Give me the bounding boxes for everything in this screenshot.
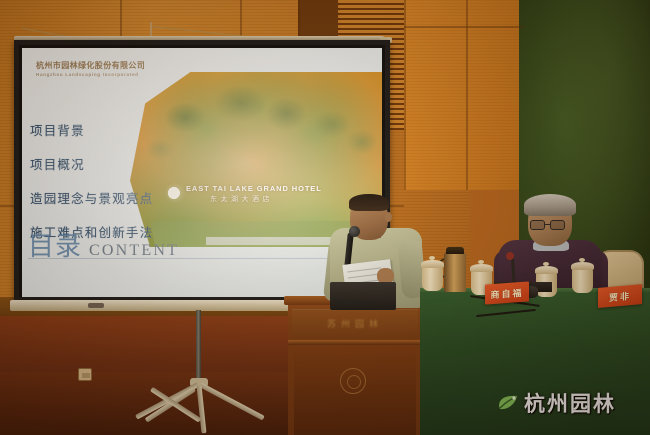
conference-room-photo: 杭州市园林绿化股份有限公司 Hangzhou Landscaping Incor…	[0, 0, 650, 435]
wall-seam	[404, 26, 524, 28]
slide-company-logo: 杭州市园林绿化股份有限公司 Hangzhou Landscaping Incor…	[36, 60, 196, 77]
tea-cup-knob	[543, 262, 549, 266]
slide-bullet-item: 项目背景	[30, 120, 245, 139]
wall-power-outlet	[78, 368, 92, 381]
slide-bullet-item: 造园理念与景观亮点	[30, 188, 245, 207]
podium-front-panel: 苏州园林	[292, 309, 418, 339]
slide-company-name-cn: 杭州市园林绿化股份有限公司	[36, 60, 196, 71]
tea-cup-knob	[429, 256, 435, 260]
tea-cup-lid	[571, 262, 594, 270]
eyeglasses-bridge	[545, 224, 550, 225]
tea-cup-knob	[579, 258, 585, 262]
slide-company-name-en: Hangzhou Landscaping Incorporated	[36, 72, 196, 77]
nameplate-right: 贾非	[598, 284, 642, 308]
nameplate-left: 商自福	[485, 281, 529, 304]
wall-seam	[466, 0, 468, 190]
eyeglasses-icon	[550, 220, 565, 230]
speaker-ear	[385, 212, 392, 222]
tea-cup-lid	[421, 260, 444, 268]
eyeglasses-icon	[530, 220, 545, 230]
screen-rail-handle	[88, 303, 104, 308]
tea-cup-lid	[470, 264, 493, 272]
wall-panel-right	[404, 0, 524, 190]
tea-cup	[572, 268, 593, 293]
tripod-center-pole	[196, 310, 201, 388]
slide-bullet-item: 项目概况	[30, 154, 245, 173]
tea-cup	[422, 266, 443, 291]
microphone-icon	[349, 226, 360, 237]
watermark-text: 杭州园林	[524, 388, 616, 418]
podium-emblem-icon	[340, 368, 366, 394]
leaf-logo-icon	[497, 393, 519, 413]
tea-cup-lid	[535, 266, 558, 274]
podium-laptop	[330, 282, 396, 310]
speaker-hair	[349, 194, 389, 211]
thermos-flask	[444, 252, 466, 292]
wall-seam	[404, 0, 406, 190]
podium-engraved-text: 苏州园林	[292, 317, 418, 330]
tea-cup-knob	[478, 260, 484, 264]
watermark: 杭州园林	[497, 388, 616, 418]
seated-man-hair	[524, 194, 576, 216]
desk-microphone-indicator-icon	[506, 252, 514, 260]
thermos-lid	[446, 247, 464, 254]
